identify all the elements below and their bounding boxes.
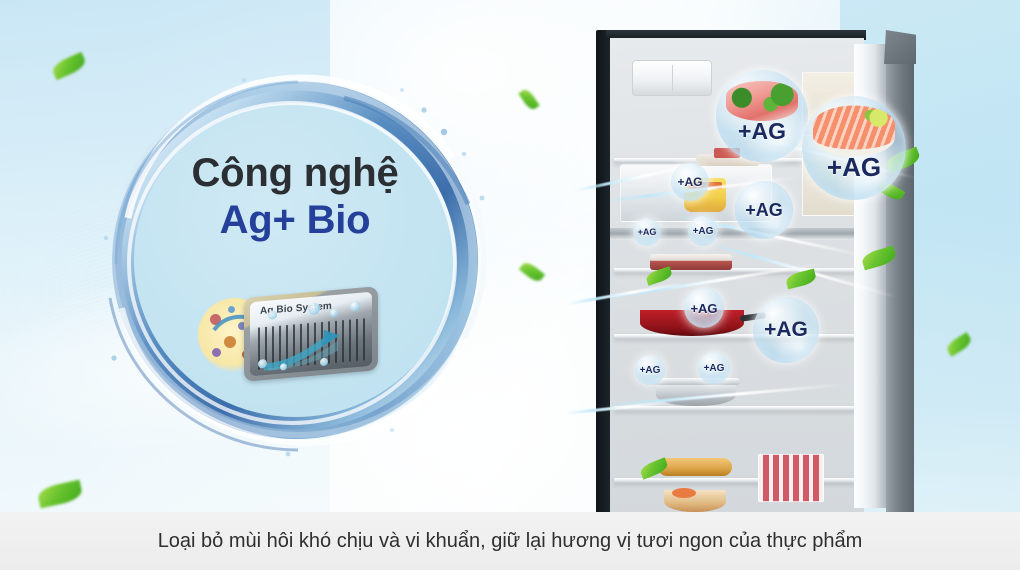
bubble-fridge-low-1: +AG (635, 355, 665, 385)
caption-band: Loại bỏ mùi hôi khó chịu và vi khuẩn, gi… (0, 512, 1020, 570)
bubble-fridge-top-1: +AG (671, 163, 709, 201)
promo-banner: Công nghệ Ag+ Bio Ag Bio System (0, 0, 1020, 570)
food-item-shrimp (672, 488, 696, 498)
ag-bio-system-device: Ag Bio System (214, 292, 378, 378)
bubble-meat-broccoli: +AG (716, 70, 808, 162)
leaf-icon (639, 457, 670, 480)
ice-tray (632, 60, 712, 96)
device-body: Ag Bio System (244, 286, 378, 382)
bubble-fridge-low-2: +AG (698, 352, 730, 384)
food-item-pot-lid (652, 378, 740, 385)
bubble-label: +AG (677, 175, 702, 189)
shelf (614, 334, 860, 339)
bubble-fresh-mid: +AG (735, 181, 793, 239)
bubble-label: +AG (764, 318, 808, 342)
bubble-label: +AG (704, 363, 725, 374)
food-image-salmon (813, 106, 895, 157)
germ-icon (224, 336, 236, 348)
ion-bubble-icon (268, 310, 277, 320)
bubble-fridge-mid-2: +AG (753, 297, 819, 363)
bubble-fridge-top-2: +AG (633, 218, 661, 246)
bubble-label: +AG (745, 200, 783, 221)
shelf (614, 406, 860, 411)
bubble-fridge-mid-1: +AG (684, 288, 724, 328)
ion-bubble-icon (308, 302, 320, 315)
germ-icon (212, 348, 221, 357)
caption-text: Loại bỏ mùi hôi khó chịu và vi khuẩn, gi… (158, 530, 863, 553)
bubble-label: +AG (693, 226, 714, 237)
bubble-label: +AG (690, 301, 717, 316)
bubble-fridge-top-3: +AG (688, 216, 718, 246)
device-screen: Ag Bio System (250, 292, 372, 377)
bubble-salmon: +AG (802, 96, 906, 200)
refrigerator-hinge-top (884, 30, 916, 64)
bubble-label: +AG (738, 118, 786, 145)
water-ring-svg (92, 58, 498, 462)
food-item-bread (658, 458, 732, 476)
bubble-label: +AG (640, 365, 661, 376)
ion-bubble-icon (330, 309, 338, 318)
food-item-packaged-meat (758, 454, 824, 502)
food-image-meat-broccoli (726, 81, 798, 121)
ion-bubble-icon (280, 363, 287, 371)
bubble-label: +AG (638, 227, 657, 237)
ion-bubble-icon (350, 301, 360, 312)
water-splash-ring (92, 58, 498, 462)
